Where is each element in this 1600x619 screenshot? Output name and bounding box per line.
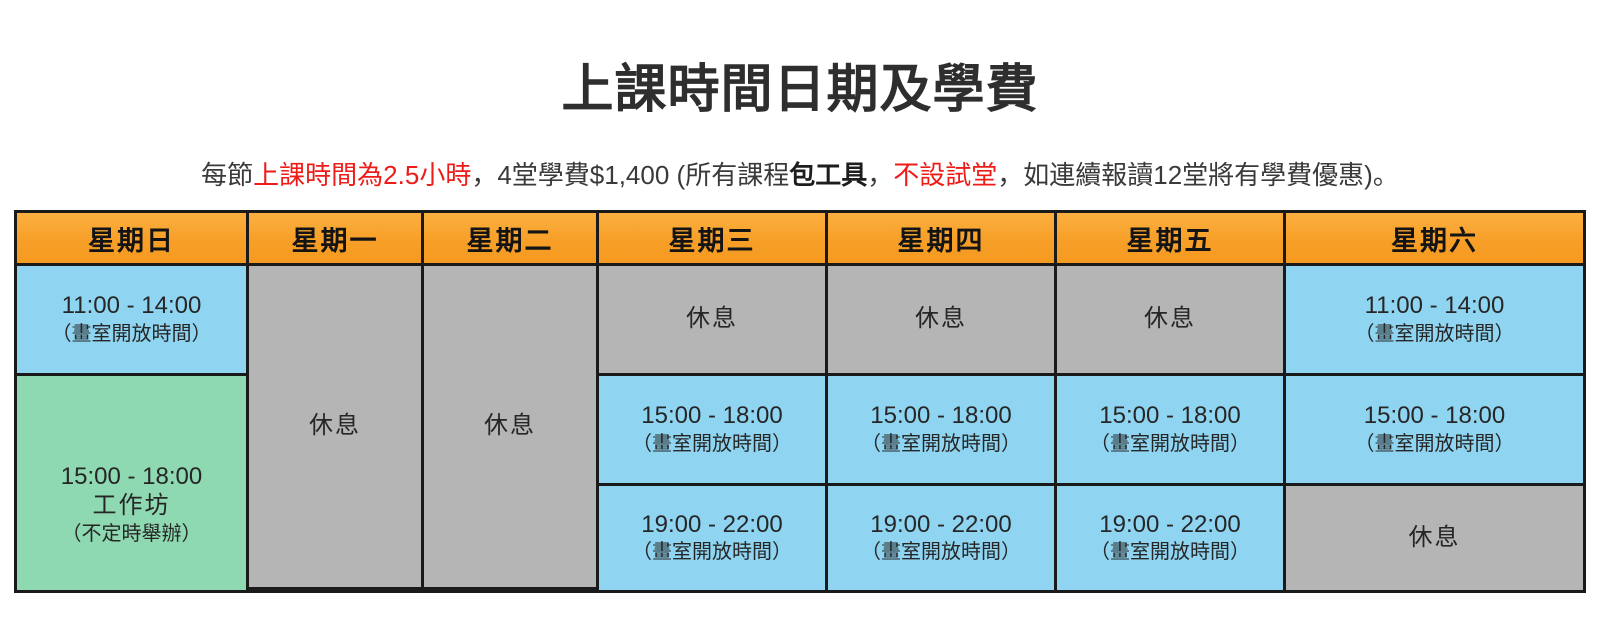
slot-time: 15:00 - 18:00 — [61, 463, 202, 492]
slot-status: 休息 — [915, 305, 967, 334]
header-label: 星期日 — [88, 219, 175, 258]
fee-notice: 每節上課時間為2.5小時，4堂學費$1,400 (所有課程包工具，不設試堂，如連… — [0, 159, 1600, 192]
cell-saturday-slot-3: 休息 — [1286, 486, 1583, 590]
slot-status: 休息 — [686, 305, 738, 334]
schedule-page: 上課時間日期及學費 每節上課時間為2.5小時，4堂學費$1,400 (所有課程包… — [0, 0, 1600, 619]
slot-status: 休息 — [309, 412, 361, 441]
slot-time: 11:00 - 14:00 — [1365, 292, 1505, 321]
column-header-saturday: 星期六 — [1286, 213, 1583, 266]
column-header-sunday: 星期日 — [17, 213, 249, 266]
header-label: 星期一 — [292, 219, 379, 258]
cell-wednesday-slot-1: 休息 — [599, 266, 828, 376]
slot-note: （畫室開放時間） — [1355, 431, 1515, 457]
cell-sunday-workshop: 15:00 - 18:00 工作坊 （不定時舉辦） — [17, 376, 249, 590]
cell-wednesday-slot-3: 19:00 - 22:00 （畫室開放時間） — [599, 486, 828, 590]
header-label: 星期五 — [1127, 219, 1214, 258]
slot-time: 11:00 - 14:00 — [62, 292, 202, 321]
cell-thursday-slot-3: 19:00 - 22:00 （畫室開放時間） — [828, 486, 1057, 590]
header-label: 星期三 — [669, 219, 756, 258]
cell-thursday-slot-1: 休息 — [828, 266, 1057, 376]
cell-thursday-slot-2: 15:00 - 18:00 （畫室開放時間） — [828, 376, 1057, 486]
cell-friday-slot-2: 15:00 - 18:00 （畫室開放時間） — [1057, 376, 1286, 486]
cell-friday-slot-3: 19:00 - 22:00 （畫室開放時間） — [1057, 486, 1286, 590]
slot-note: （畫室開放時間） — [1355, 321, 1515, 347]
notice-highlight-duration: 上課時間為2.5小時 — [253, 160, 471, 190]
slot-time: 15:00 - 18:00 — [870, 402, 1011, 431]
cell-monday-all-day: 休息 — [249, 266, 424, 590]
column-header-thursday: 星期四 — [828, 213, 1057, 266]
cell-saturday-slot-2: 15:00 - 18:00 （畫室開放時間） — [1286, 376, 1583, 486]
cell-wednesday-slot-2: 15:00 - 18:00 （畫室開放時間） — [599, 376, 828, 486]
slot-time: 19:00 - 22:00 — [870, 511, 1011, 540]
slot-time: 19:00 - 22:00 — [1099, 511, 1240, 540]
header-label: 星期二 — [467, 219, 554, 258]
notice-part-4: ，如連續報讀12堂將有學費優惠)。 — [997, 160, 1399, 190]
slot-note: （畫室開放時間） — [632, 431, 792, 457]
cell-friday-slot-1: 休息 — [1057, 266, 1286, 376]
slot-note: （畫室開放時間） — [861, 539, 1021, 565]
notice-part-1: 每節 — [201, 160, 253, 190]
column-header-wednesday: 星期三 — [599, 213, 828, 266]
slot-time: 15:00 - 18:00 — [1364, 402, 1505, 431]
page-title: 上課時間日期及學費 — [0, 62, 1600, 118]
weekly-schedule-table: 星期日 星期一 星期二 星期三 星期四 星期五 星期六 11:00 - 14 — [14, 210, 1586, 593]
slot-note: （畫室開放時間） — [632, 539, 792, 565]
slot-note: （畫室開放時間） — [52, 321, 212, 347]
cell-sunday-morning: 11:00 - 14:00 （畫室開放時間） — [17, 266, 249, 376]
notice-highlight-no-trial: 不設試堂 — [893, 160, 997, 190]
notice-bold-tools: 包工具 — [789, 160, 867, 190]
slot-time: 15:00 - 18:00 — [641, 402, 782, 431]
slot-status: 休息 — [1409, 524, 1461, 553]
slot-note: （不定時舉辦） — [61, 521, 202, 547]
slot-title: 工作坊 — [61, 491, 202, 521]
header-label: 星期六 — [1391, 219, 1478, 258]
column-header-tuesday: 星期二 — [424, 213, 599, 266]
slot-status: 休息 — [484, 412, 536, 441]
slot-time: 19:00 - 22:00 — [641, 511, 782, 540]
slot-time: 15:00 - 18:00 — [1099, 402, 1240, 431]
cell-saturday-slot-1: 11:00 - 14:00 （畫室開放時間） — [1286, 266, 1583, 376]
notice-part-3: ， — [867, 160, 893, 190]
notice-part-2: ，4堂學費$1,400 (所有課程 — [471, 160, 789, 190]
column-header-monday: 星期一 — [249, 213, 424, 266]
slot-note: （畫室開放時間） — [1090, 539, 1250, 565]
header-label: 星期四 — [898, 219, 985, 258]
slot-note: （畫室開放時間） — [861, 431, 1021, 457]
slot-status: 休息 — [1144, 305, 1196, 334]
cell-tuesday-all-day: 休息 — [424, 266, 599, 590]
slot-note: （畫室開放時間） — [1090, 431, 1250, 457]
column-header-friday: 星期五 — [1057, 213, 1286, 266]
